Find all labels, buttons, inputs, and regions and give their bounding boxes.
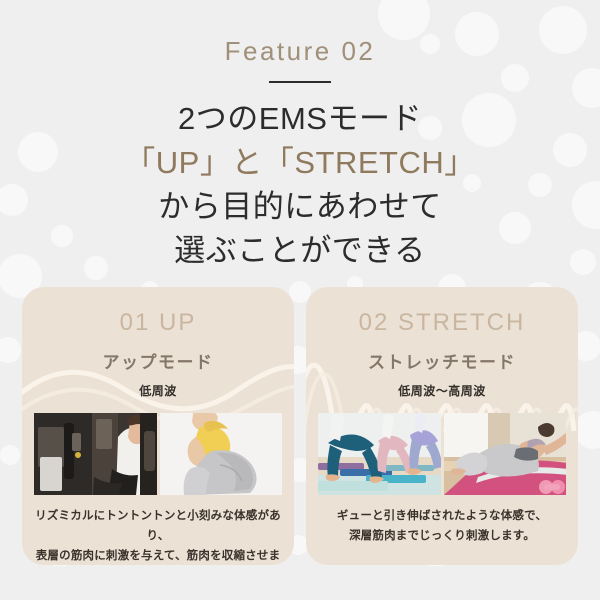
page-header: Feature 02 2つのEMSモード 「UP」と「STRETCH」 から目的… [0, 0, 600, 273]
page-root: Feature 02 2つのEMSモード 「UP」と「STRETCH」 から目的… [0, 0, 600, 600]
mode-card-up-body: 01 UP アップモード 低周波 [22, 287, 294, 399]
headline-line-1: 2つのEMSモード [0, 97, 600, 141]
mode-card-stretch-caption-line-1: ギューと引き伸ばされたような体感で、 [318, 507, 566, 527]
photo-yoga-class-downward-dog-on-mats [318, 413, 441, 495]
mode-card-stretch-caption-line-2: 深層筋肉までじっくり刺激します。 [318, 527, 566, 547]
feature-label: Feature 02 [0, 0, 600, 67]
photo-woman-hips-in-grey-leggings [160, 413, 283, 495]
mode-card-stretch-caption: ギューと引き伸ばされたような体感で、 深層筋肉までじっくり刺激します。 [318, 507, 566, 547]
mode-card-up[interactable]: 01 UP アップモード 低周波 [22, 287, 294, 565]
mode-card-up-index: 01 UP [22, 287, 294, 337]
mode-card-stretch-frequency: 低周波〜高周波 [306, 373, 578, 399]
mode-card-stretch-mode-name: ストレッチモード [306, 337, 578, 373]
mode-card-up-photos [34, 413, 282, 495]
headline-line-4: 選ぶことができる [0, 229, 600, 273]
mode-card-up-mode-name: アップモード [22, 337, 294, 373]
mode-card-up-caption-line-2: 表層の筋肉に刺激を与えて、筋肉を収縮させます。 [34, 547, 282, 565]
mode-card-stretch-body: 02 STRETCH ストレッチモード 低周波〜高周波 [306, 287, 578, 399]
mode-card-stretch-index: 02 STRETCH [306, 287, 578, 337]
headline-line-2: 「UP」と「STRETCH」 [0, 141, 600, 185]
photo-woman-on-gym-leg-press-machine [34, 413, 157, 495]
mode-card-stretch[interactable]: 02 STRETCH ストレッチモード 低周波〜高周波 [306, 287, 578, 565]
mode-card-up-frequency: 低周波 [22, 373, 294, 399]
mode-card-list: 01 UP アップモード 低周波 [0, 287, 600, 567]
mode-card-up-caption-line-1: リズミカルにトントントンと小刻みな体感があり、 [34, 507, 282, 547]
headline-line-3: から目的にあわせて [0, 185, 600, 229]
mode-card-up-caption: リズミカルにトントントンと小刻みな体感があり、 表層の筋肉に刺激を与えて、筋肉を… [34, 507, 282, 565]
mode-card-stretch-photos [318, 413, 566, 495]
photo-woman-stretching-on-pink-mat [444, 413, 567, 495]
page-title: 2つのEMSモード 「UP」と「STRETCH」 から目的にあわせて 選ぶことが… [0, 83, 600, 273]
